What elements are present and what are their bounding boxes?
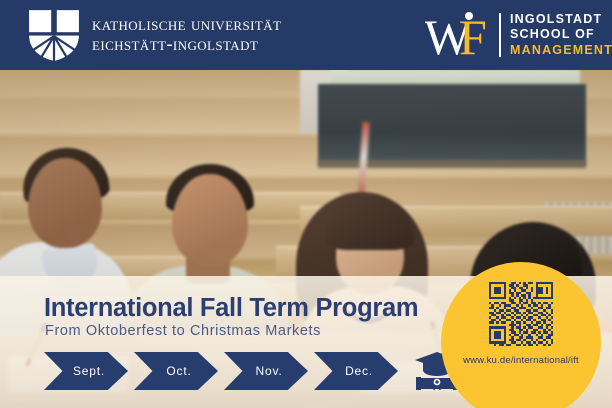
timeline-step-label: Dec. (345, 364, 373, 378)
ku-wordmark-line-2: Eichstätt-Ingolstadt (92, 36, 281, 56)
ku-wordmark-line-1: Katholische Universität (92, 16, 281, 36)
page-title: International Fall Term Program (44, 294, 418, 323)
term-timeline: Sept. Oct. Nov. Dec. (44, 352, 460, 390)
wfi-line-ingolstadt: INGOLSTADT (510, 12, 612, 27)
timeline-step-sept[interactable]: Sept. (44, 352, 128, 390)
wfi-wordmark: INGOLSTADT SCHOOL OF MANAGEMENT (510, 12, 612, 58)
wfi-line-management: MANAGEMENT (510, 43, 612, 58)
ku-logo[interactable]: Katholische Universität Eichstätt-Ingols… (26, 7, 281, 63)
wfi-logo[interactable]: W F INGOLSTADT SCHOOL OF MANAGEMENT (425, 8, 612, 62)
wfi-divider (499, 13, 501, 57)
timeline-step-oct[interactable]: Oct. (134, 352, 218, 390)
hall-blackboard (318, 84, 586, 166)
timeline-step-label: Nov. (256, 364, 283, 378)
poster-root: Katholische Universität Eichstätt-Ingols… (0, 0, 612, 408)
timeline-step-dec[interactable]: Dec. (314, 352, 398, 390)
timeline-step-label: Sept. (73, 364, 105, 378)
wfi-monogram-icon: W F (425, 10, 497, 60)
qr-url-label: www.ku.de/international/ift (463, 355, 579, 366)
qr-code-icon[interactable] (489, 282, 553, 346)
hall-board-frame (318, 160, 586, 168)
qr-badge[interactable]: www.ku.de/international/ift (441, 262, 601, 408)
header-band: Katholische Universität Eichstätt-Ingols… (0, 0, 612, 70)
timeline-step-label: Oct. (166, 364, 191, 378)
ku-shield-icon (26, 7, 82, 63)
timeline-step-nov[interactable]: Nov. (224, 352, 308, 390)
svg-text:F: F (459, 10, 487, 60)
page-subtitle: From Oktoberfest to Christmas Markets (45, 323, 321, 339)
wfi-line-school-of: SCHOOL OF (510, 27, 612, 42)
ku-wordmark: Katholische Universität Eichstätt-Ingols… (92, 15, 281, 56)
